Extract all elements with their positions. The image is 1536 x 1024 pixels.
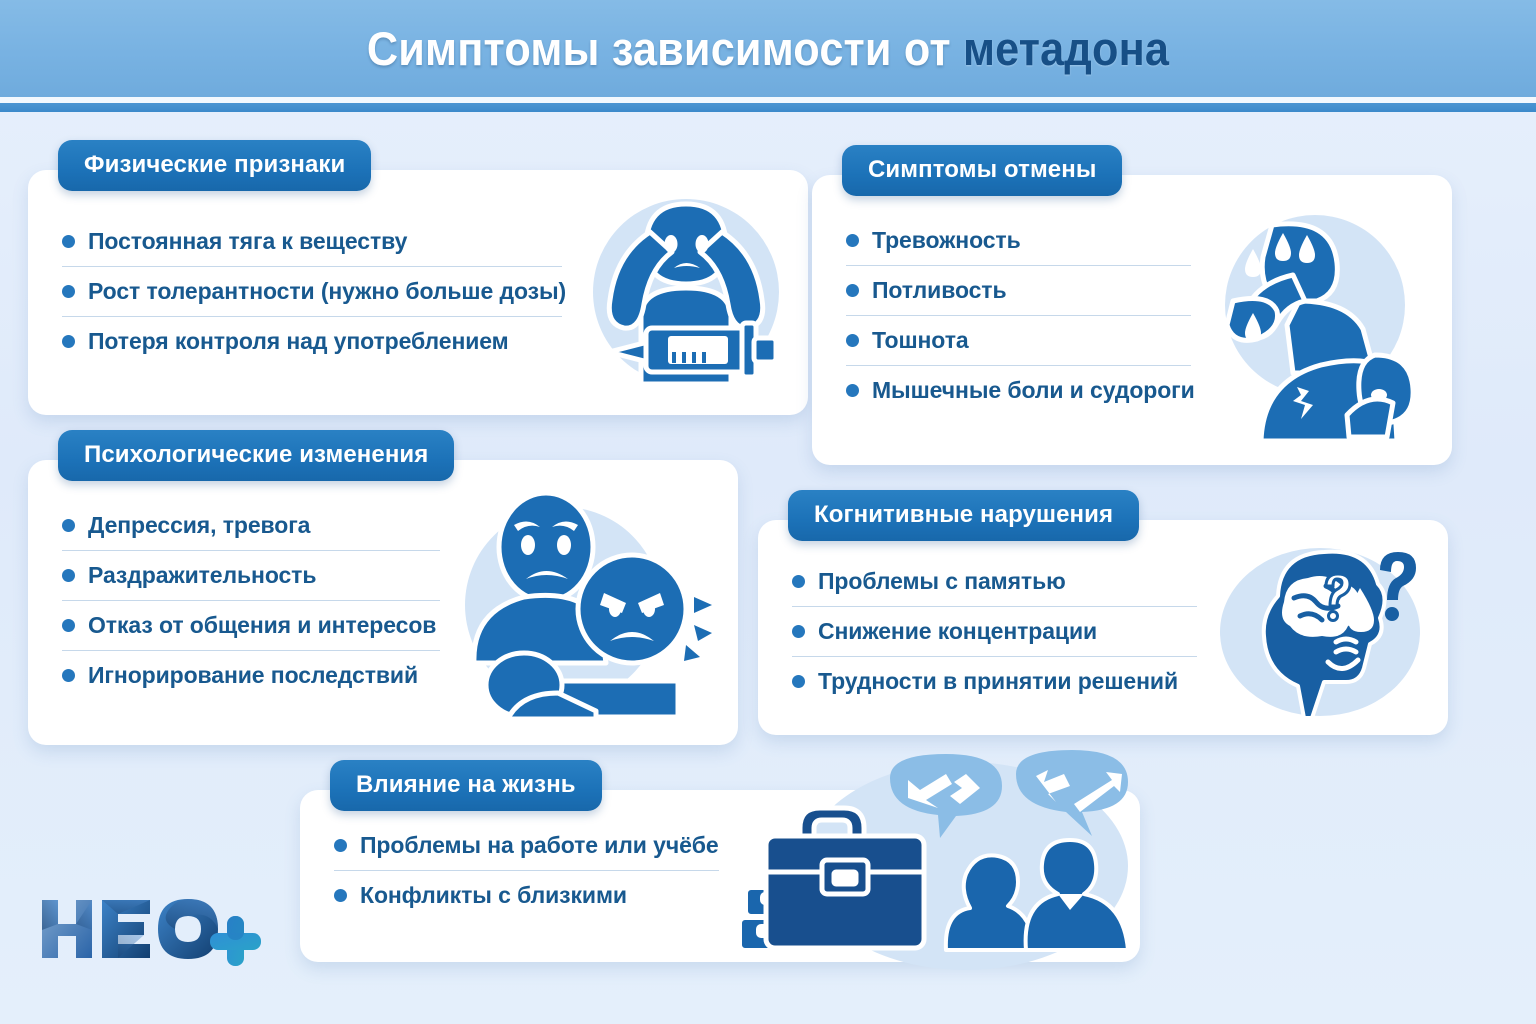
list-item: Мышечные боли и судороги bbox=[846, 377, 1452, 404]
bullet-icon bbox=[62, 669, 75, 682]
list-item-label: Снижение концентрации bbox=[818, 618, 1097, 645]
list-item: Тревожность bbox=[846, 227, 1452, 254]
list-item-label: Игнорирование последствий bbox=[88, 662, 418, 689]
list-item-label: Конфликты с близкими bbox=[360, 882, 627, 909]
list-item: Проблемы с памятью bbox=[792, 568, 1448, 595]
bullet-icon bbox=[334, 889, 347, 902]
card-cognitive-impairment: Когнитивные нарушения Проблемы с памятью… bbox=[758, 520, 1448, 735]
list-item: Отказ от общения и интересов bbox=[62, 612, 738, 639]
card-cognitive-impairment-badge: Когнитивные нарушения bbox=[788, 490, 1139, 541]
list-item-label: Раздражительность bbox=[88, 562, 316, 589]
bullet-icon bbox=[846, 384, 859, 397]
list-item-label: Потеря контроля над употреблением bbox=[88, 328, 509, 355]
page-title-accent: метадона bbox=[963, 22, 1169, 75]
bullet-icon bbox=[334, 839, 347, 852]
list-item: Снижение концентрации bbox=[792, 618, 1448, 645]
list-item-label: Потливость bbox=[872, 277, 1007, 304]
bullet-icon bbox=[846, 334, 859, 347]
card-life-impact: Влияние на жизнь Проблемы на работе или … bbox=[300, 790, 1140, 962]
list-item: Конфликты с близкими bbox=[334, 882, 1140, 909]
list-item: Тошнота bbox=[846, 327, 1452, 354]
card-withdrawal-symptoms-list: Тревожность Потливость Тошнота Мышечные … bbox=[846, 227, 1452, 404]
list-item-label: Тревожность bbox=[872, 227, 1021, 254]
list-divider bbox=[846, 315, 1191, 316]
list-item: Проблемы на работе или учёбе bbox=[334, 832, 1140, 859]
header-band: Симптомы зависимости от метадона bbox=[0, 0, 1536, 97]
list-divider bbox=[792, 656, 1197, 657]
list-item-label: Рост толерантности (нужно больше дозы) bbox=[88, 278, 566, 305]
bullet-icon bbox=[62, 335, 75, 348]
card-physical-signs-list: Постоянная тяга к веществу Рост толерант… bbox=[62, 228, 808, 355]
list-item-label: Проблемы с памятью bbox=[818, 568, 1066, 595]
card-psychological-changes-badge: Психологические изменения bbox=[58, 430, 454, 481]
card-psychological-changes: Психологические изменения Депрессия, тре… bbox=[28, 460, 738, 745]
list-item: Раздражительность bbox=[62, 562, 738, 589]
list-item: Игнорирование последствий bbox=[62, 662, 738, 689]
list-item-label: Трудности в принятии решений bbox=[818, 668, 1178, 695]
card-withdrawal-symptoms: Симптомы отмены Тревожность Потливость Т… bbox=[812, 175, 1452, 465]
list-divider bbox=[62, 316, 562, 317]
list-divider bbox=[846, 265, 1191, 266]
list-item: Трудности в принятии решений bbox=[792, 668, 1448, 695]
list-item-label: Депрессия, тревога bbox=[88, 512, 310, 539]
page-title-main: Симптомы зависимости от bbox=[367, 22, 963, 75]
list-item-label: Постоянная тяга к веществу bbox=[88, 228, 407, 255]
list-item-label: Отказ от общения и интересов bbox=[88, 612, 436, 639]
list-divider bbox=[792, 606, 1197, 607]
bullet-icon bbox=[846, 284, 859, 297]
bullet-icon bbox=[62, 569, 75, 582]
list-divider bbox=[334, 870, 719, 871]
list-item: Потеря контроля над употреблением bbox=[62, 328, 808, 355]
page-title: Симптомы зависимости от метадона bbox=[367, 21, 1169, 76]
list-divider bbox=[62, 266, 562, 267]
bullet-icon bbox=[792, 675, 805, 688]
bullet-icon bbox=[62, 285, 75, 298]
list-divider bbox=[62, 600, 440, 601]
list-item-label: Тошнота bbox=[872, 327, 969, 354]
bullet-icon bbox=[62, 519, 75, 532]
card-withdrawal-symptoms-badge: Симптомы отмены bbox=[842, 145, 1122, 196]
list-item-label: Проблемы на работе или учёбе bbox=[360, 832, 719, 859]
list-item: Депрессия, тревога bbox=[62, 512, 738, 539]
bullet-icon bbox=[846, 234, 859, 247]
card-cognitive-impairment-list: Проблемы с памятью Снижение концентрации… bbox=[792, 568, 1448, 695]
bullet-icon bbox=[62, 619, 75, 632]
card-physical-signs: Физические признаки Постоянная тяга к ве… bbox=[28, 170, 808, 415]
neo-plus-logo bbox=[32, 890, 262, 968]
infographic-poster: Симптомы зависимости от метадона Физичес… bbox=[0, 0, 1536, 1024]
card-life-impact-list: Проблемы на работе или учёбе Конфликты с… bbox=[334, 832, 1140, 909]
list-divider bbox=[62, 650, 440, 651]
list-item: Потливость bbox=[846, 277, 1452, 304]
list-item: Рост толерантности (нужно больше дозы) bbox=[62, 278, 808, 305]
list-divider bbox=[846, 365, 1191, 366]
card-psychological-changes-list: Депрессия, тревога Раздражительность Отк… bbox=[62, 512, 738, 689]
bullet-icon bbox=[792, 575, 805, 588]
list-divider bbox=[62, 550, 440, 551]
bullet-icon bbox=[62, 235, 75, 248]
list-item: Постоянная тяга к веществу bbox=[62, 228, 808, 255]
header-divider-blue bbox=[0, 103, 1536, 112]
bullet-icon bbox=[792, 625, 805, 638]
list-item-label: Мышечные боли и судороги bbox=[872, 377, 1195, 404]
card-life-impact-badge: Влияние на жизнь bbox=[330, 760, 602, 811]
card-physical-signs-badge: Физические признаки bbox=[58, 140, 371, 191]
